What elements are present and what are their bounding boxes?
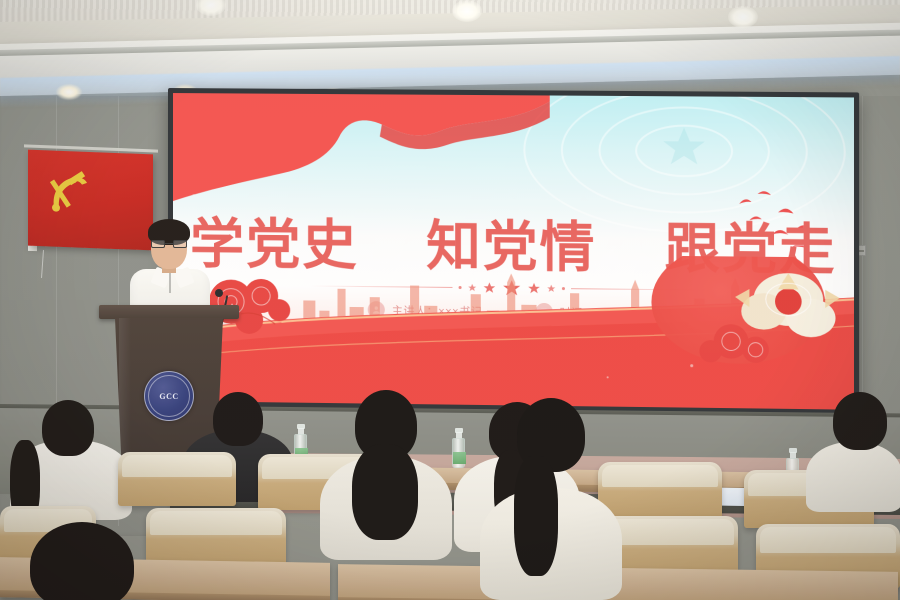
person-torso — [806, 442, 900, 512]
person-head — [42, 400, 94, 456]
led-screen: 学党史 知党情 跟党走 — [173, 93, 854, 410]
ceiling-downlight — [452, 0, 482, 22]
microphone-icon — [215, 289, 223, 297]
chair-back — [118, 452, 236, 506]
audience-person — [318, 390, 454, 560]
audience-person — [476, 398, 626, 600]
person-hair — [352, 444, 418, 540]
glasses-icon — [151, 240, 187, 248]
screen-bottom-decoration — [173, 251, 854, 410]
recessed-downlight — [56, 84, 82, 100]
podium-top — [99, 305, 239, 319]
star-icon — [661, 124, 708, 171]
audience-person — [806, 392, 900, 512]
ceiling-downlight — [728, 6, 758, 28]
hammer-and-sickle-icon — [46, 166, 94, 220]
person-head — [30, 522, 134, 600]
audience-person — [6, 400, 136, 520]
led-screen-bezel: 学党史 知党情 跟党走 — [168, 88, 859, 415]
person-head — [213, 392, 263, 446]
audience-person — [22, 522, 142, 600]
chair-back — [146, 508, 286, 568]
conference-hall-photo: 学党史 知党情 跟党走 — [0, 0, 900, 600]
peony-flower-icon — [690, 258, 844, 371]
person-hair — [514, 456, 558, 576]
speaker-placket — [169, 273, 171, 293]
person-head — [833, 392, 887, 450]
